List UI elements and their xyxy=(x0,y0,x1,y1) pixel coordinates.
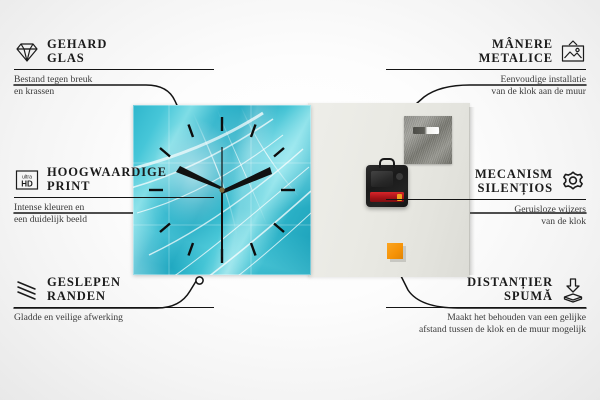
svg-text:HD: HD xyxy=(21,179,33,188)
divider xyxy=(386,69,586,70)
feature-title-line2: METALICE xyxy=(479,52,553,66)
feature-subtitle: Bestand tegen breuk xyxy=(14,74,214,86)
hanger-keyhole-slot xyxy=(413,127,439,134)
feature-title: GESLEPEN xyxy=(47,276,121,290)
feature-metal-handles: MÂNERE METALICE Eenvoudige installatie v… xyxy=(386,38,586,99)
diamond-icon xyxy=(14,39,40,65)
feature-silent-mechanism: MECANISM SILENȚIOS Geruisloze wijzers va… xyxy=(386,168,586,229)
divider xyxy=(14,307,214,308)
feature-title: DISTANȚIER xyxy=(467,276,553,290)
feature-subtitle: Maakt het behouden van een gelijke xyxy=(386,312,586,324)
feature-title: MECANISM xyxy=(475,168,553,182)
picture-hanger-icon xyxy=(560,39,586,65)
feature-tempered-glass: GEHARD GLAS Bestand tegen breuk en krass… xyxy=(14,38,214,99)
feature-title: GEHARD xyxy=(47,38,107,52)
foam-spacer xyxy=(387,243,403,259)
feature-subtitle: Gladde en veilige afwerking xyxy=(14,312,214,324)
feature-subtitle: Intense kleuren en xyxy=(14,202,214,214)
feature-subtitle-line2: van de klok aan de muur xyxy=(386,86,586,98)
feature-title-line2: SILENȚIOS xyxy=(475,182,553,196)
gear-icon xyxy=(560,169,586,195)
feature-subtitle: Geruisloze wijzers xyxy=(386,204,586,216)
feature-title: MÂNERE xyxy=(479,38,553,52)
feature-subtitle-line2: afstand tussen de klok en de muur mogeli… xyxy=(386,324,586,336)
feature-foam-spacer: DISTANȚIER SPUMĂ Maakt het behouden van … xyxy=(386,276,586,337)
feature-title-line2: GLAS xyxy=(47,52,107,66)
feature-subtitle: Eenvoudige installatie xyxy=(386,74,586,86)
feature-polished-edges: GESLEPEN RANDEN Gladde en veilige afwerk… xyxy=(14,276,214,324)
divider xyxy=(386,307,586,308)
metal-hanger-plate xyxy=(404,116,452,164)
feature-title-line2: SPUMĂ xyxy=(467,290,553,304)
divider xyxy=(14,69,214,70)
beveled-edges-icon xyxy=(14,277,40,303)
divider xyxy=(14,197,214,198)
mechanism-hanging-loop xyxy=(379,158,395,168)
feature-subtitle-line2: een duidelijk beeld xyxy=(14,214,214,226)
ultra-hd-icon: ultra HD xyxy=(14,167,40,193)
divider xyxy=(386,199,586,200)
feature-title-line2: RANDEN xyxy=(47,290,121,304)
feature-subtitle-line2: van de klok xyxy=(386,216,586,228)
feature-high-quality-print: ultra HD HOOGWAARDIGE PRINT Intense kleu… xyxy=(14,166,214,227)
feature-subtitle-line2: en krassen xyxy=(14,86,214,98)
feature-title: HOOGWAARDIGE xyxy=(47,166,167,180)
feature-title-line2: PRINT xyxy=(47,180,167,194)
spacer-arrow-icon xyxy=(560,277,586,303)
hanger-texture xyxy=(404,116,452,164)
